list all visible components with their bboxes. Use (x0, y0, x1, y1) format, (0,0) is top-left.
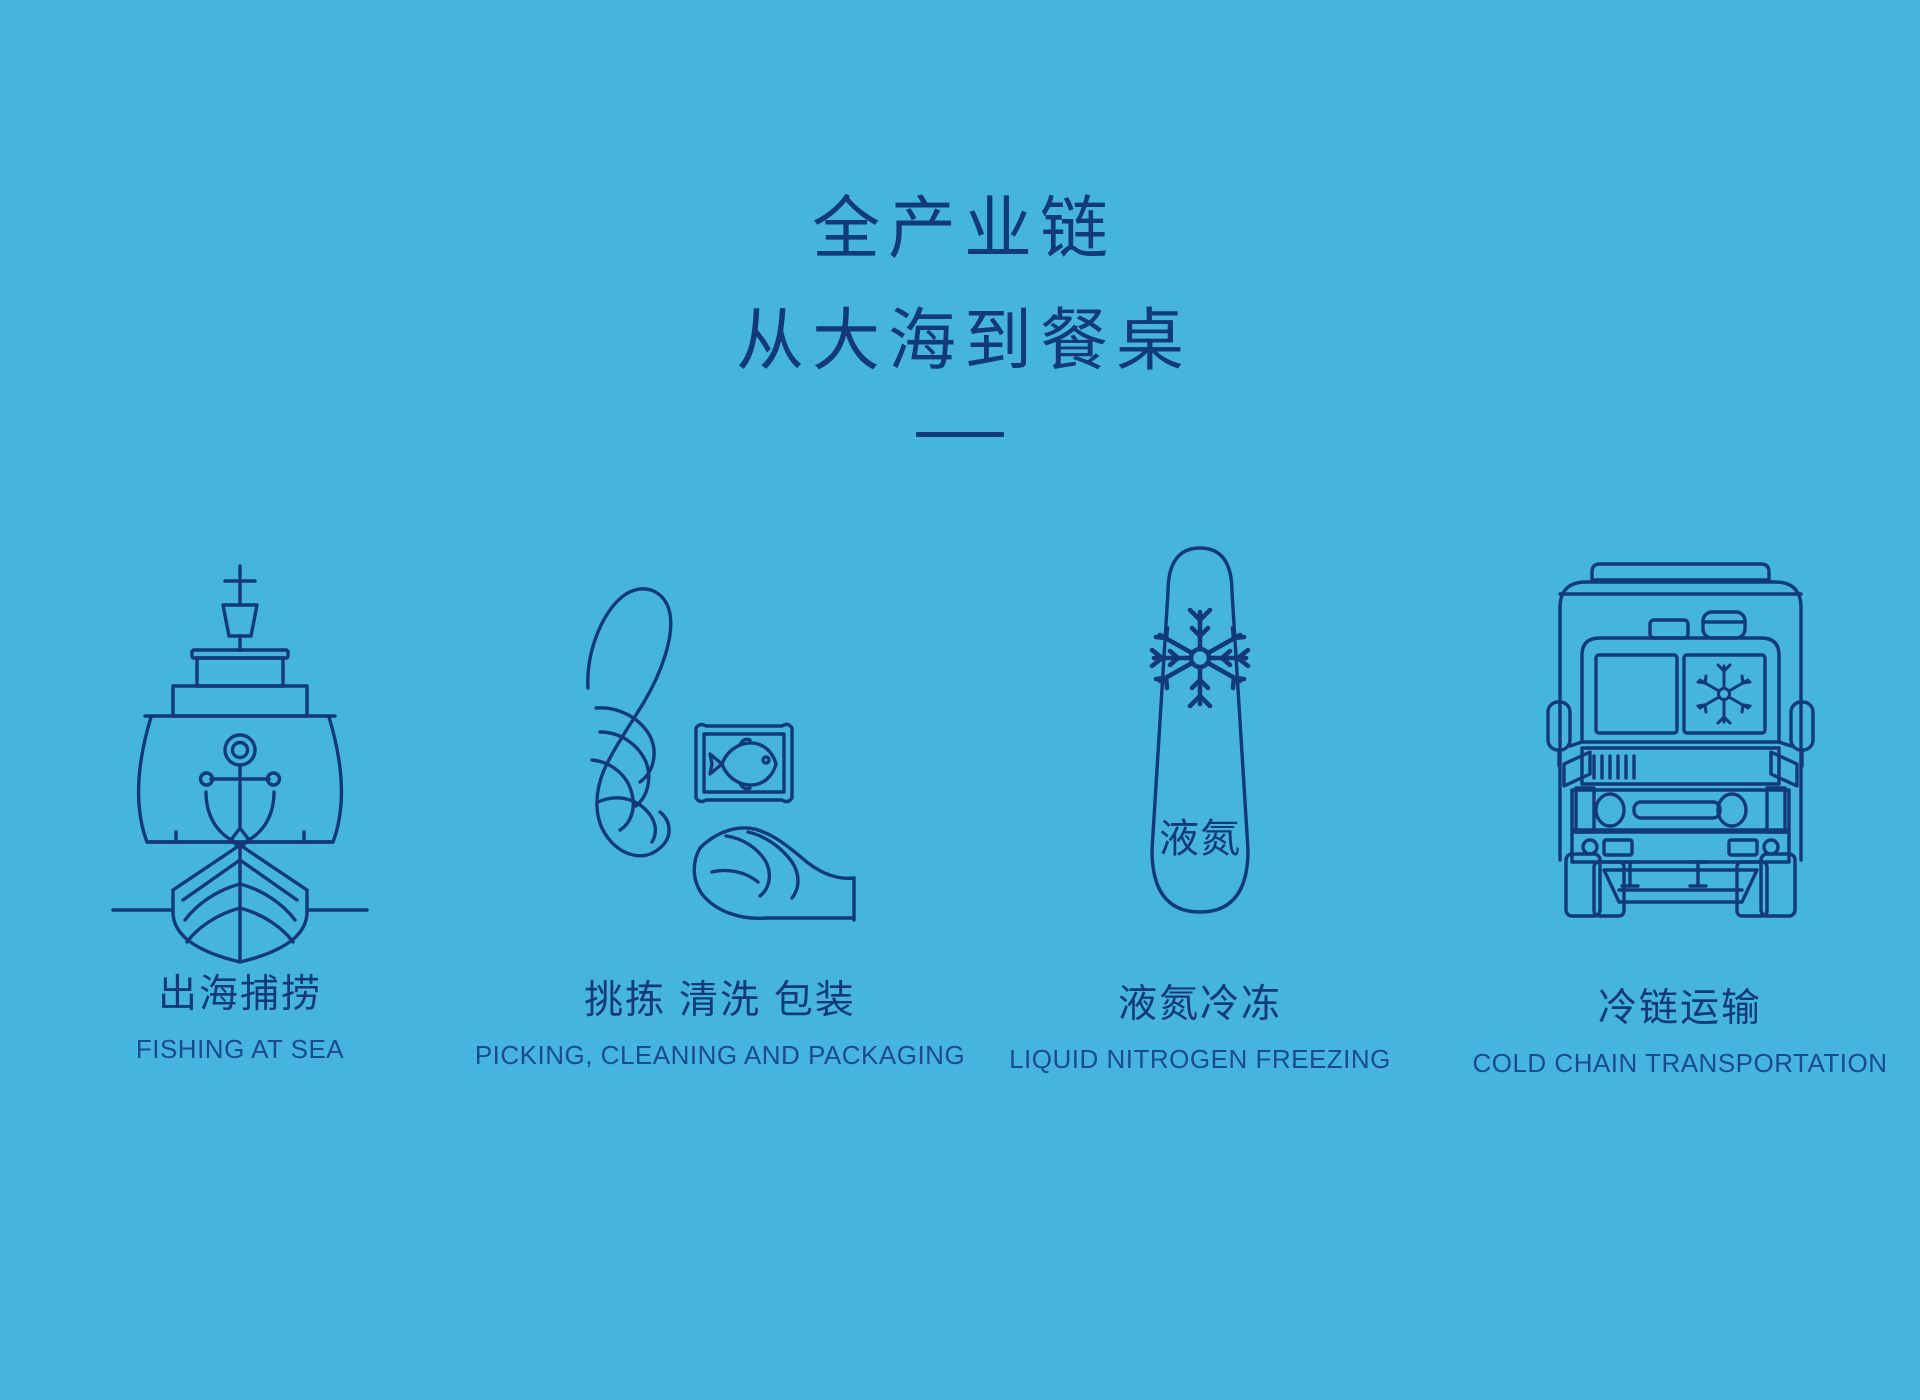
step-liquid-nitrogen-freezing[interactable]: 液氮 液氮冷冻 LIQUID NITROGEN FREEZING (960, 520, 1440, 1074)
title-divider-wrap (0, 432, 1920, 437)
step-picking-cleaning-packaging[interactable]: 挑拣 清洗 包装 PICKING, CLEANING AND PACKAGING (480, 520, 960, 1070)
page-header: 全产业链 从大海到餐桌 (0, 0, 1920, 437)
step-icon-container: 液氮 (960, 520, 1440, 930)
step-label-en: FISHING AT SEA (136, 1034, 344, 1064)
snowflake-icon (1698, 665, 1750, 723)
step-label-en: COLD CHAIN TRANSPORTATION (1472, 1048, 1887, 1078)
step-label-zh: 出海捕捞 (158, 972, 322, 1018)
step-label-zh: 挑拣 清洗 包装 (584, 978, 856, 1024)
step-label-en: PICKING, CLEANING AND PACKAGING (475, 1040, 965, 1070)
step-icon-container (480, 520, 960, 926)
page-title-line-2: 从大海到餐桌 (0, 290, 1920, 392)
step-label-zh: 冷链运输 (1598, 986, 1762, 1032)
liquid-nitrogen-tank-icon: 液氮 (1110, 540, 1290, 920)
step-label-en: LIQUID NITROGEN FREEZING (1009, 1044, 1391, 1074)
title-divider (916, 432, 1004, 437)
refrigerated-truck-icon (1538, 550, 1823, 920)
step-label-zh: 液氮冷冻 (1118, 982, 1282, 1028)
step-icon-container (1440, 520, 1920, 934)
step-fishing-at-sea[interactable]: 出海捕捞 FISHING AT SEA (0, 520, 480, 1064)
process-steps-row: 出海捕捞 FISHING AT SEA (0, 520, 1920, 1078)
step-icon-container (0, 520, 480, 920)
hands-with-fish-package-icon (570, 580, 870, 920)
infographic-page: 全产业链 从大海到餐桌 (0, 0, 1920, 1400)
tank-label-text: 液氮 (1159, 817, 1241, 861)
step-cold-chain-transportation[interactable]: 冷链运输 COLD CHAIN TRANSPORTATION (1440, 520, 1920, 1078)
fishing-boat-icon (105, 560, 375, 920)
page-title-line-1: 全产业链 (0, 178, 1920, 280)
